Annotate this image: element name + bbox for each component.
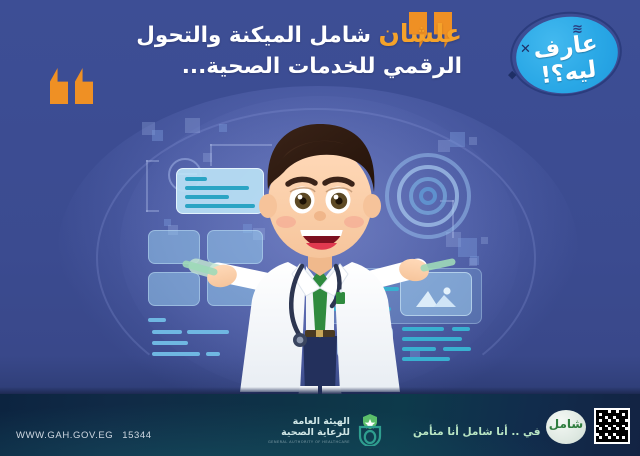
gah-logo-text: الهيئة العامة للرعاية الصحية GENERAL AUT… xyxy=(268,416,350,445)
gah-logo-line2: للرعاية الصحية xyxy=(268,427,350,438)
gah-logo-line1: الهيئة العامة xyxy=(268,416,350,427)
gah-logo-mark xyxy=(357,414,383,446)
website-url[interactable]: WWW.GAH.GOV.EG xyxy=(16,430,113,441)
footer-divider xyxy=(0,387,640,394)
headline-line2: الرقمي للخدمات الصحية... xyxy=(182,54,462,79)
shamel-logo-label: شامل xyxy=(546,417,586,431)
poster-root: علشان شامل الميكنة والتحول الرقمي للخدما… xyxy=(0,0,640,456)
qr-code[interactable] xyxy=(594,408,630,444)
quote-mark-close xyxy=(50,68,93,104)
footer-contact: WWW.GAH.GOV.EG15344 xyxy=(16,430,152,441)
gah-logo-english: GENERAL AUTHORITY OF HEALTHCARE xyxy=(268,440,350,444)
qr-code-grid xyxy=(596,410,628,442)
gah-authority-logo: الهيئة العامة للرعاية الصحية GENERAL AUT… xyxy=(268,414,383,446)
headline-accent-word: علشان xyxy=(379,19,462,48)
headline-line1-rest: شامل الميكنة والتحول xyxy=(136,23,378,48)
hotline-number[interactable]: 15344 xyxy=(122,430,151,441)
footer-tagline: في .. أنا شامل أنا متأمن xyxy=(413,426,541,438)
headline-text: علشان شامل الميكنة والتحول الرقمي للخدما… xyxy=(122,16,462,82)
shamel-logo: شامل xyxy=(546,410,586,444)
shield-droplet-icon xyxy=(357,414,383,446)
badge-arif-leh[interactable]: ✕ ◆ ≋ عارف ليه؟! xyxy=(506,8,628,100)
